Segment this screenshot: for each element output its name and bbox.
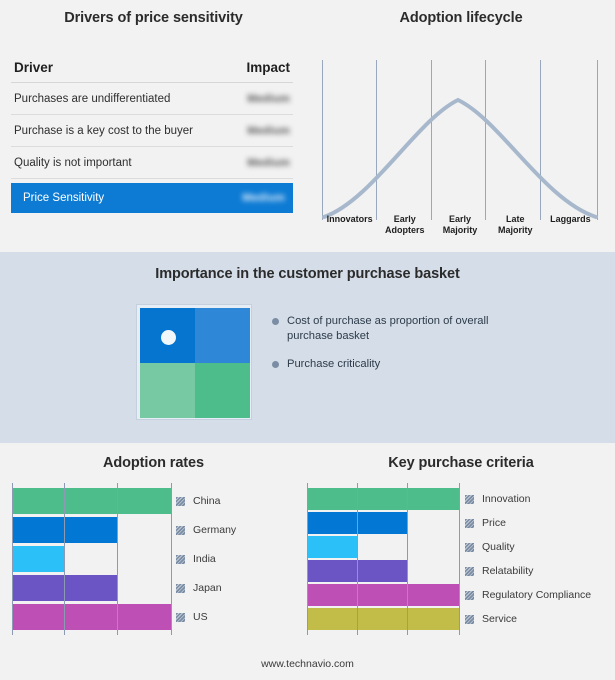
- lifecycle-panel: Adoption lifecycle Innovators Early Adop…: [307, 0, 615, 252]
- lifecycle-stage-label: Early Adopters: [377, 214, 432, 235]
- key-purchase-criteria-panel: Key purchase criteria InnovationPriceQua…: [307, 443, 615, 680]
- driver-label: Purchase is a key cost to the buyer: [14, 125, 193, 137]
- lifecycle-stage-label: Innovators: [322, 214, 377, 235]
- driver-label: Price Sensitivity: [23, 192, 104, 204]
- bar-row[interactable]: [12, 488, 171, 514]
- bar-row[interactable]: [307, 512, 459, 534]
- lifecycle-stage-label: Laggards: [543, 214, 598, 235]
- bullet-icon: [272, 361, 279, 368]
- grid-line: [307, 483, 308, 635]
- legend-item[interactable]: China: [176, 488, 236, 514]
- adoption-legend: ChinaGermanyIndiaJapanUS: [176, 488, 236, 633]
- legend-label: Innovation: [482, 493, 530, 505]
- grid-line: [64, 483, 65, 635]
- legend-label: India: [193, 553, 216, 565]
- legend-label: Purchase criticality: [287, 357, 380, 372]
- legend-item[interactable]: Japan: [176, 575, 236, 601]
- bar-regulatory-compliance[interactable]: [307, 584, 459, 606]
- legend-item: Cost of purchase as proportion of overal…: [272, 314, 572, 343]
- legend-swatch-icon: [465, 567, 474, 576]
- legend-item[interactable]: Germany: [176, 517, 236, 543]
- bar-row[interactable]: [12, 604, 171, 630]
- legend-item[interactable]: US: [176, 604, 236, 630]
- legend-swatch-icon: [465, 543, 474, 552]
- impact-value: Medium: [247, 125, 290, 137]
- legend-label: US: [193, 611, 208, 623]
- adoption-bars: [12, 488, 171, 630]
- adoption-rates-panel: Adoption rates ChinaGermanyIndiaJapanUS: [0, 443, 307, 680]
- matrix-quadrant-bottom-right: [195, 363, 250, 418]
- table-row[interactable]: Purchase is a key cost to the buyer Medi…: [11, 115, 293, 147]
- legend-item[interactable]: Regulatory Compliance: [465, 584, 591, 606]
- table-row[interactable]: Purchases are undifferentiated Medium: [11, 83, 293, 115]
- legend-item[interactable]: Quality: [465, 536, 591, 558]
- bullet-icon: [272, 318, 279, 325]
- bar-us[interactable]: [12, 604, 171, 630]
- key-purchase-criteria-title: Key purchase criteria: [307, 455, 615, 471]
- legend-label: Relatability: [482, 565, 533, 577]
- drivers-table: Driver Impact Purchases are undifferenti…: [11, 60, 293, 213]
- bar-row[interactable]: [12, 546, 171, 572]
- drivers-table-header: Driver Impact: [11, 60, 293, 83]
- adoption-rates-title: Adoption rates: [0, 455, 307, 471]
- bar-service[interactable]: [307, 608, 459, 630]
- bar-innovation[interactable]: [307, 488, 459, 510]
- legend-label: Quality: [482, 541, 515, 553]
- importance-panel: Importance in the customer purchase bask…: [0, 252, 615, 443]
- legend-label: Cost of purchase as proportion of overal…: [287, 314, 495, 343]
- legend-label: Germany: [193, 524, 236, 536]
- lifecycle-plot: [322, 60, 598, 220]
- matrix-quadrant-top-left: [140, 308, 195, 363]
- legend-swatch-icon: [176, 555, 185, 564]
- importance-legend: Cost of purchase as proportion of overal…: [272, 314, 572, 386]
- footer-url: www.technavio.com: [0, 658, 615, 670]
- legend-item[interactable]: Service: [465, 608, 591, 630]
- bar-row[interactable]: [12, 517, 171, 543]
- bar-quality[interactable]: [307, 536, 357, 558]
- lifecycle-title: Adoption lifecycle: [307, 10, 615, 26]
- adoption-rates-chart: [12, 483, 171, 635]
- bar-row[interactable]: [307, 536, 459, 558]
- column-header-impact: Impact: [246, 60, 290, 75]
- legend-label: Service: [482, 613, 517, 625]
- grid-line: [12, 483, 13, 635]
- column-header-driver: Driver: [14, 60, 53, 75]
- drivers-panel: Drivers of price sensitivity Driver Impa…: [0, 0, 307, 252]
- matrix-quadrant-top-right: [195, 308, 250, 363]
- key-purchase-criteria-chart: [307, 483, 459, 635]
- bar-row[interactable]: [307, 584, 459, 606]
- legend-swatch-icon: [465, 495, 474, 504]
- driver-label: Purchases are undifferentiated: [14, 93, 170, 105]
- legend-swatch-icon: [465, 591, 474, 600]
- purchase-basket-matrix: [136, 304, 252, 420]
- bar-row[interactable]: [307, 608, 459, 630]
- legend-swatch-icon: [465, 519, 474, 528]
- table-row[interactable]: Quality is not important Medium: [11, 147, 293, 179]
- legend-label: Price: [482, 517, 506, 529]
- bar-row[interactable]: [307, 560, 459, 582]
- legend-swatch-icon: [176, 497, 185, 506]
- grid-line: [117, 483, 118, 635]
- bar-row[interactable]: [307, 488, 459, 510]
- impact-value: Medium: [242, 192, 285, 204]
- criteria-bars: [307, 488, 459, 630]
- grid-line: [171, 483, 172, 635]
- bar-china[interactable]: [12, 488, 171, 514]
- legend-label: Regulatory Compliance: [482, 589, 591, 601]
- legend-label: China: [193, 495, 220, 507]
- grid-line: [407, 483, 408, 635]
- legend-item[interactable]: India: [176, 546, 236, 572]
- grid-line: [459, 483, 460, 635]
- bar-row[interactable]: [12, 575, 171, 601]
- legend-swatch-icon: [465, 615, 474, 624]
- importance-title: Importance in the customer purchase bask…: [0, 266, 615, 282]
- bar-india[interactable]: [12, 546, 64, 572]
- table-row-highlighted[interactable]: Price Sensitivity Medium: [11, 183, 293, 213]
- lifecycle-stage-label: Late Majority: [488, 214, 543, 235]
- legend-swatch-icon: [176, 584, 185, 593]
- matrix-marker-dot: [161, 330, 176, 345]
- legend-swatch-icon: [176, 526, 185, 535]
- legend-item: Purchase criticality: [272, 357, 572, 372]
- impact-value: Medium: [247, 157, 290, 169]
- lifecycle-labels: Innovators Early Adopters Early Majority…: [322, 214, 598, 235]
- legend-swatch-icon: [176, 613, 185, 622]
- drivers-title: Drivers of price sensitivity: [0, 10, 307, 26]
- matrix-quadrant-bottom-left: [140, 363, 195, 418]
- legend-item[interactable]: Relatability: [465, 560, 591, 582]
- driver-label: Quality is not important: [14, 157, 132, 169]
- adoption-curve: [322, 60, 598, 220]
- legend-label: Japan: [193, 582, 222, 594]
- impact-value: Medium: [247, 93, 290, 105]
- criteria-legend: InnovationPriceQualityRelatabilityRegula…: [465, 488, 591, 632]
- lifecycle-stage-label: Early Majority: [432, 214, 487, 235]
- legend-item[interactable]: Price: [465, 512, 591, 534]
- grid-line: [357, 483, 358, 635]
- legend-item[interactable]: Innovation: [465, 488, 591, 510]
